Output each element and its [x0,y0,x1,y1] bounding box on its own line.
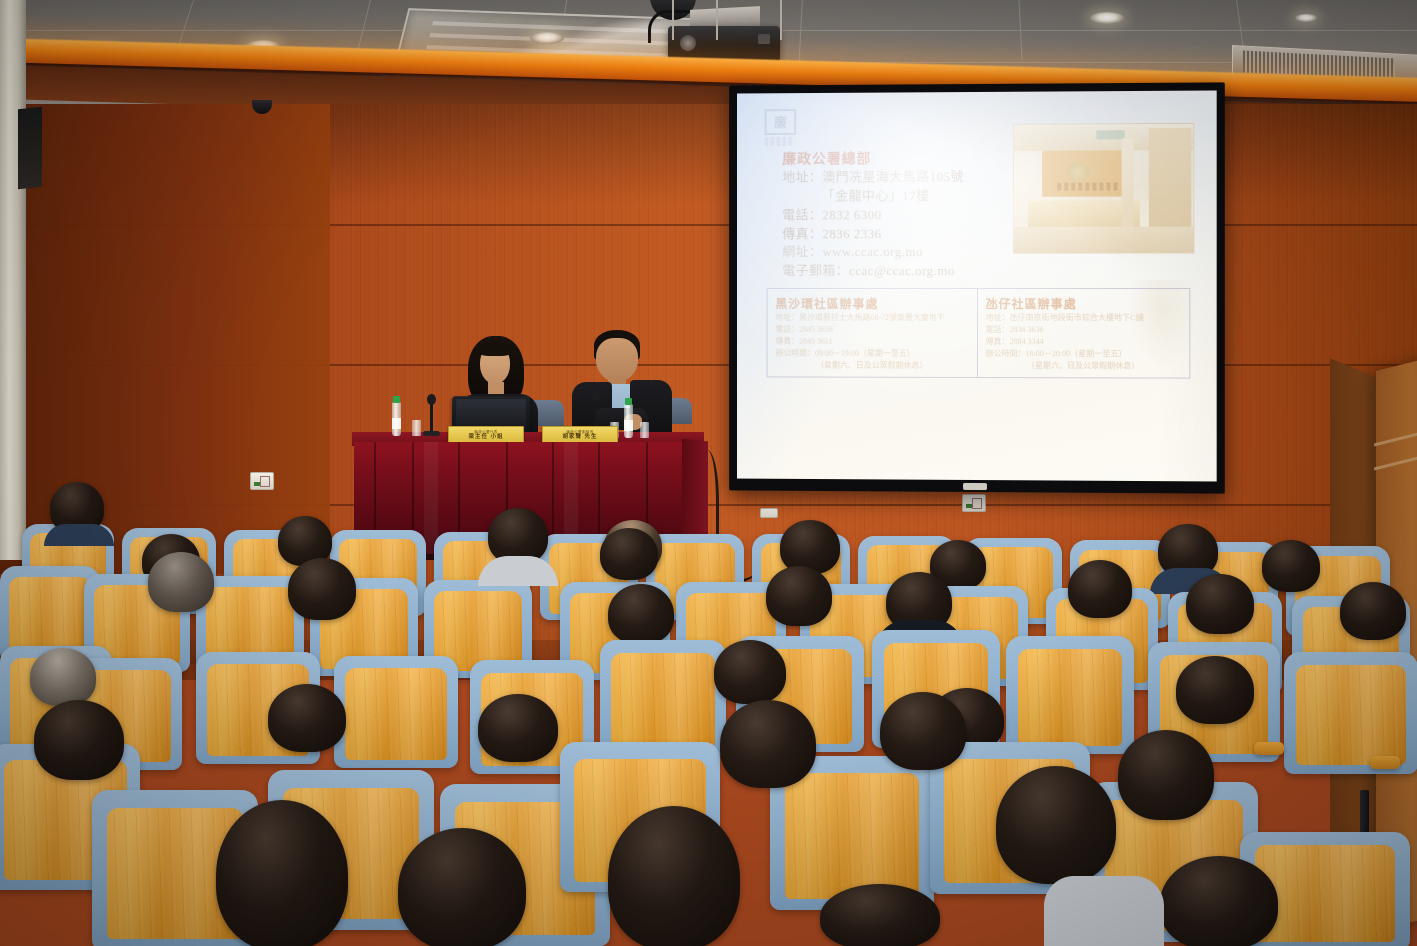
audience-head [600,528,658,580]
audience-head-foreground [216,800,348,946]
audience-head-foreground [608,806,740,946]
headquarters-phone: 電話：2832 6300 [782,206,1031,225]
office-reception-photo [1013,123,1194,254]
headquarters-block: 廉政公署總部 地址：澳門冼星海大馬路105號 「金龍中心」17樓 電話：2832… [782,148,1031,281]
wall-outlet-plate[interactable] [962,494,986,512]
branch-office-address: 地址：氹仔南京街地段街市綜合大樓地下C舖 [985,312,1181,324]
gooseneck-microphone[interactable] [430,402,433,432]
wall-speaker [18,107,42,190]
branch-office-address: 地址：黑沙環慕拉士大馬路68-72號泰豐大廈地下 [775,312,968,324]
branch-office-hours: 辦公時間：16:00－20:00（星期一至五） [985,348,1181,360]
placard-name: 胡家聲 先生 [562,434,597,441]
audience-head [1068,560,1132,618]
audience-head [1176,656,1254,724]
audience-head [1118,730,1214,820]
water-bottle[interactable] [392,402,401,436]
audience-head [720,700,816,788]
headquarters-website: 網址：www.ccac.org.mo [782,243,1031,262]
screen-bottom-latch [963,483,987,490]
audience-head [34,700,124,780]
headquarters-fax: 傳真：2836 2336 [782,224,1031,243]
audience-shoulders [1044,876,1164,946]
audience-shoulders [44,524,114,546]
headquarters-address-line-2: 「金龍中心」17樓 [782,187,1031,207]
seat-armrest [1370,756,1400,769]
auditorium-photo: 廉 廉政公署總部 地址：澳門冼星海大馬路105號 「金龍中心」17樓 電話：28… [0,0,1417,946]
projector-drop-rods [672,0,792,40]
audience-seat[interactable] [1006,636,1134,754]
audience-head [766,566,832,626]
branch-office-fax: 傳真：2884 3344 [985,336,1181,348]
audience-head [148,552,214,612]
headquarters-title: 廉政公署總部 [782,148,1031,169]
branch-office-fax: 傳真：2845 3611 [775,336,968,348]
drinking-glass[interactable] [640,422,649,438]
branch-office-boxes: 黑沙環社區辦事處 地址：黑沙環慕拉士大馬路68-72號泰豐大廈地下 電話：284… [767,288,1191,379]
drinking-glass[interactable] [412,420,421,436]
wall-column [0,0,26,560]
projection-screen-frame: 廉 廉政公署總部 地址：澳門冼星海大馬路105號 「金龍中心」17樓 電話：28… [729,82,1225,493]
audience-head [780,520,840,574]
ccac-logo-icon: 廉 [765,109,795,145]
audience-head [288,558,356,620]
ceiling-downlight [1295,14,1317,22]
placard-name: 梁主任 小姐 [468,434,503,441]
projection-screen: 廉 廉政公署總部 地址：澳門冼星海大馬路105號 「金龍中心」17樓 電話：28… [737,90,1217,481]
branch-office-phone: 電話：2845 3636 [775,324,968,336]
water-bottle[interactable] [624,404,633,438]
audience-head [1262,540,1320,592]
branch-office-hours: 辦公時間：09:00－19:00（星期一至五） [775,348,968,360]
branch-office-box-right: 氹仔社區辦事處 地址：氹仔南京街地段街市綜合大樓地下C舖 電話：2836 363… [976,289,1189,378]
speaker-fringe [478,342,512,356]
gooseneck-microphone[interactable] [594,398,597,428]
audience-head-foreground [820,884,940,946]
wall-outlet-plate[interactable] [760,508,778,518]
audience-head [880,692,966,770]
ceiling-downlight [530,32,564,44]
audience-head-foreground [1160,856,1278,946]
audience-head-foreground [996,766,1116,884]
branch-office-title: 黑沙環社區辦事處 [775,295,968,312]
wall-outlet-plate[interactable] [250,472,274,490]
audience-seat[interactable] [334,656,458,768]
audience-head [714,640,786,704]
audience-seat[interactable] [600,640,726,756]
ccac-logo-bar [765,137,793,146]
ceiling-downlight [1090,12,1124,24]
audience-head-foreground [398,828,526,946]
ccac-logo-glyph: 廉 [765,109,797,135]
presentation-slide: 廉 廉政公署總部 地址：澳門冼星海大馬路105號 「金龍中心」17樓 電話：28… [737,90,1217,481]
branch-office-closed: （星期六、日及公眾假期休息） [775,360,968,372]
audience-head [478,694,558,762]
branch-office-phone: 電話：2836 3636 [985,324,1181,336]
branch-office-closed: （星期六、日及公眾假期休息） [985,360,1181,373]
audience-head [268,684,346,752]
headquarters-address-line-1: 地址：澳門冼星海大馬路105號 [782,168,1031,188]
branch-office-title: 氹仔社區辦事處 [985,295,1181,312]
audience-head [608,584,674,644]
headquarters-email: 電子郵箱：ccac@ccac.org.mo [782,262,1031,281]
audience-head [30,648,96,706]
exit-sign-icon [1096,130,1124,139]
audience-head [1186,574,1254,634]
branch-office-box-left: 黑沙環社區辦事處 地址：黑沙環慕拉士大馬路68-72號泰豐大廈地下 電話：284… [768,289,977,377]
audience-head [1340,582,1406,640]
seat-armrest [1254,742,1284,755]
